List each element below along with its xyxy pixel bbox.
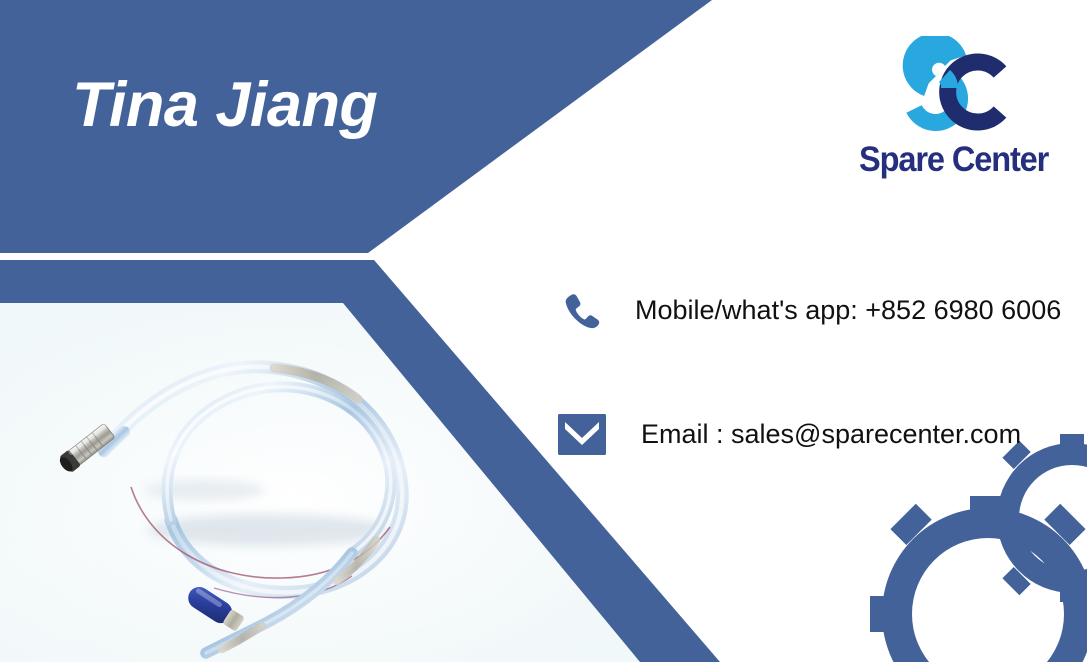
contact-phone-row[interactable]: Mobile/what's app: +852 6980 6006	[553, 281, 1061, 339]
contact-email-row[interactable]: Email : sales@sparecenter.com	[553, 405, 1021, 463]
company-logo: Spare Center	[852, 36, 1052, 186]
company-name: Spare Center	[859, 140, 1045, 180]
person-name: Tina Jiang	[72, 72, 492, 138]
email-text: Email : sales@sparecenter.com	[641, 419, 1021, 450]
phone-icon	[553, 281, 611, 339]
phone-text: Mobile/what's app: +852 6980 6006	[635, 295, 1061, 326]
sc-monogram-icon	[892, 36, 1014, 142]
business-card: Tina Jiang Spare Center Mo	[0, 0, 1087, 662]
envelope-icon	[553, 405, 611, 463]
